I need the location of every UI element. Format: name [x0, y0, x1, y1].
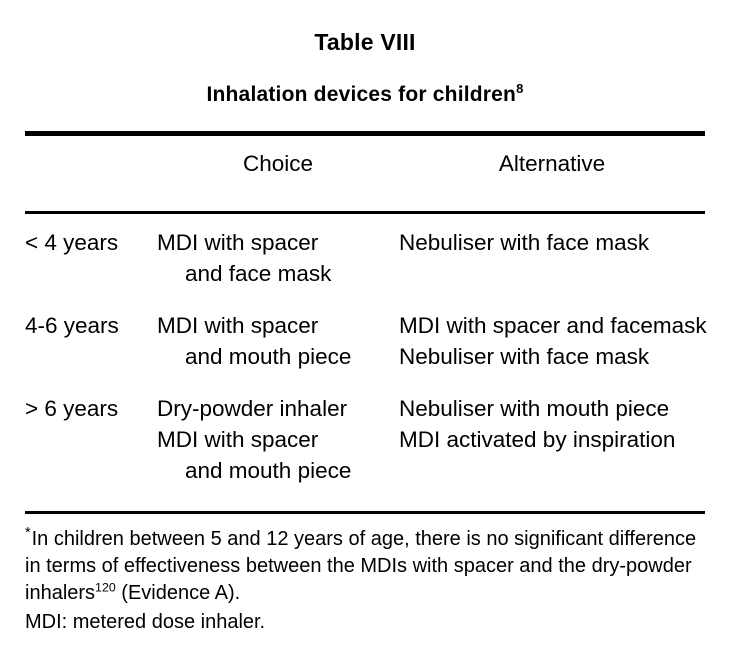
cell-alternative: Nebuliser with face mask [399, 214, 705, 299]
cell-age-group: > 6 years [25, 382, 157, 496]
alternative-line: Nebuliser with face mask [399, 341, 705, 372]
footnote-marker: * [25, 525, 31, 541]
table-row: > 6 years Dry-powder inhaler MDI with sp… [25, 382, 705, 496]
footnote-abbreviation: MDI: metered dose inhaler. [25, 607, 705, 636]
column-header-choice: Choice [157, 136, 399, 189]
page-title: Table VIII [0, 0, 730, 56]
cell-age-group: 4-6 years [25, 299, 157, 382]
choice-line: Dry-powder inhaler [157, 393, 399, 424]
cell-choice: MDI with spacer and face mask [157, 214, 399, 299]
cell-alternative: MDI with spacer and facemask Nebuliser w… [399, 299, 705, 382]
column-header-age [25, 136, 157, 189]
cell-choice: Dry-powder inhaler MDI with spacer and m… [157, 382, 399, 496]
alternative-line: MDI activated by inspiration [399, 424, 705, 455]
choice-line: MDI with spacer [157, 227, 399, 258]
alternative-line: Nebuliser with face mask [399, 227, 705, 258]
choice-line: MDI with spacer [157, 424, 399, 455]
choice-line: and mouth piece [157, 455, 399, 486]
table-header-row: Choice Alternative [25, 136, 705, 189]
inhalation-devices-table: Choice Alternative [25, 136, 705, 189]
footnote-evidence: *In children between 5 and 12 years of a… [25, 526, 705, 607]
table-subtitle: Inhalation devices for children8 [0, 56, 730, 108]
table-subtitle-text: Inhalation devices for children [206, 83, 516, 106]
column-header-alternative: Alternative [399, 136, 705, 189]
alternative-line: Nebuliser with mouth piece [399, 393, 705, 424]
alternative-line: MDI with spacer and facemask [399, 310, 705, 341]
choice-line: and mouth piece [157, 341, 399, 372]
footnote-reference: 120 [95, 580, 116, 594]
choice-line: and face mask [157, 258, 399, 289]
inhalation-devices-table-body: < 4 years MDI with spacer and face mask … [25, 214, 705, 496]
cell-alternative: Nebuliser with mouth piece MDI activated… [399, 382, 705, 496]
table-row: < 4 years MDI with spacer and face mask … [25, 214, 705, 299]
table-row: 4-6 years MDI with spacer and mouth piec… [25, 299, 705, 382]
table-figure: Table VIII Inhalation devices for childr… [0, 0, 730, 664]
table-subtitle-reference: 8 [516, 81, 523, 96]
cell-age-group: < 4 years [25, 214, 157, 299]
choice-line: MDI with spacer [157, 310, 399, 341]
footnote-text-tail: (Evidence A). [116, 582, 241, 604]
table-footnotes: *In children between 5 and 12 years of a… [25, 514, 705, 636]
cell-choice: MDI with spacer and mouth piece [157, 299, 399, 382]
